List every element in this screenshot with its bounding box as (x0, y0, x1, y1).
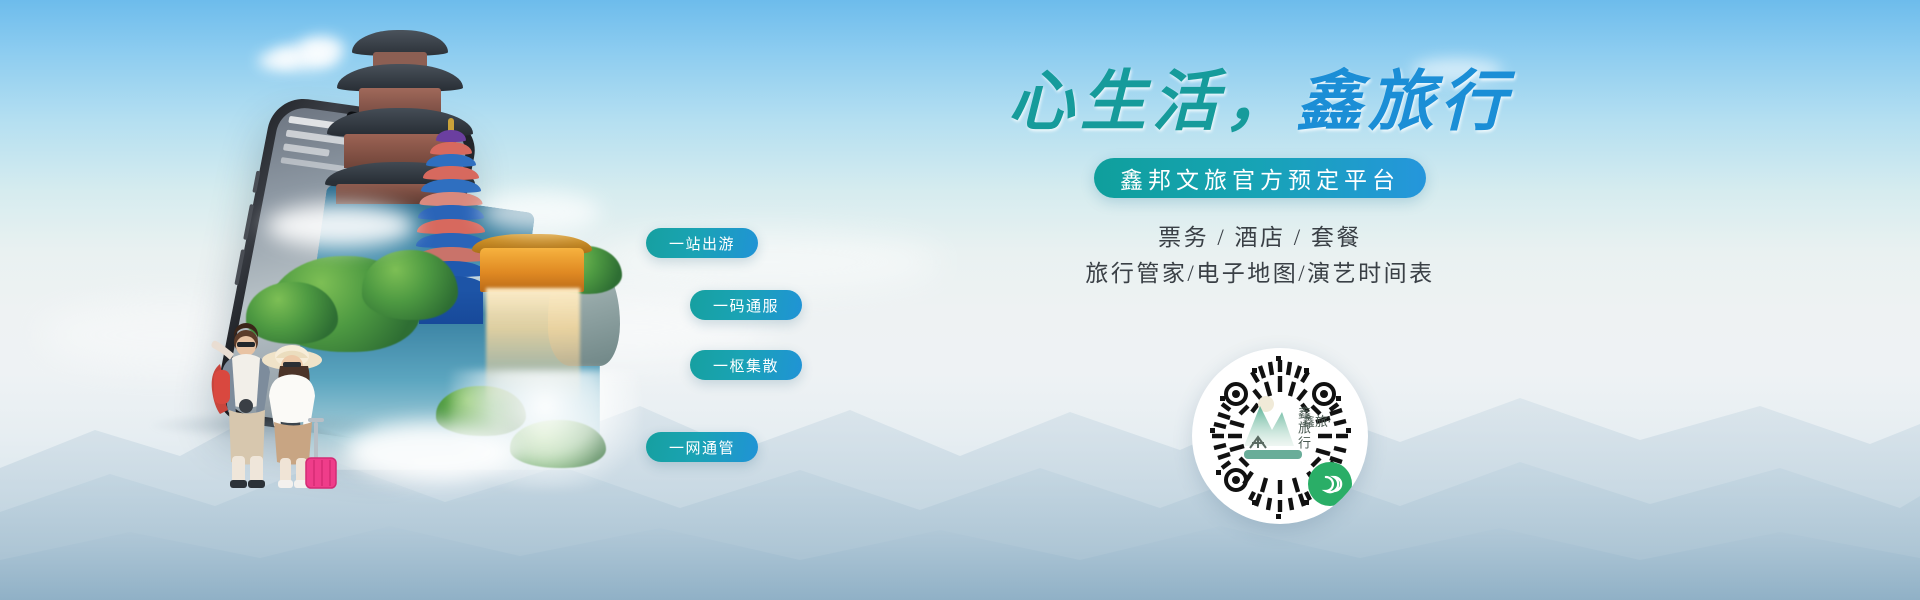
service-description: 票务 / 酒店 / 套餐 旅行管家/电子地图/演艺时间表 (940, 220, 1580, 291)
feature-pill-label: 一站出游 (669, 233, 735, 254)
feature-pill-one-code-service[interactable]: 一码通服 (690, 290, 802, 320)
phone-scenery-composite (150, 20, 690, 490)
page-title: 心生活，鑫旅行 (940, 70, 1580, 136)
headline-part-two: 鑫旅行 (1296, 66, 1512, 139)
headline-part-one: 心生活 (1008, 66, 1224, 139)
golden-pavilion-body (480, 248, 584, 292)
mist (266, 204, 416, 248)
headline-comma: ， (1224, 66, 1296, 139)
wechat-miniprogram-icon[interactable] (1308, 462, 1352, 506)
feature-pill-one-stop-travel[interactable]: 一站出游 (646, 228, 758, 258)
service-line-2: 旅行管家/电子地图/演艺时间表 (940, 256, 1580, 292)
official-platform-badge[interactable]: 鑫邦文旅官方预定平台 (1094, 158, 1426, 198)
feature-pill-label: 一枢集散 (713, 355, 779, 376)
feature-pill-one-network-management[interactable]: 一网通管 (646, 432, 758, 462)
feature-pill-label: 一码通服 (713, 295, 779, 316)
feature-pill-label: 一网通管 (669, 437, 735, 458)
travel-promo-banner: 一站出游 一码通服 一枢集散 一网通管 心生活，鑫旅行 鑫邦文旅官方预定平台 票… (0, 0, 1920, 600)
mist (480, 192, 600, 232)
feature-pill-one-hub-transfer[interactable]: 一枢集散 (690, 350, 802, 380)
qr-code-icon[interactable]: 鑫旅行 鑫旅行 (1192, 348, 1368, 524)
brand-logo-vertical-text: 鑫旅行 (1294, 406, 1313, 451)
promo-copy-block: 心生活，鑫旅行 鑫邦文旅官方预定平台 票务 / 酒店 / 套餐 旅行管家/电子地… (940, 70, 1580, 291)
foliage (362, 250, 458, 320)
travelers-icon (188, 310, 348, 490)
service-line-1: 票务 / 酒店 / 套餐 (940, 220, 1580, 256)
